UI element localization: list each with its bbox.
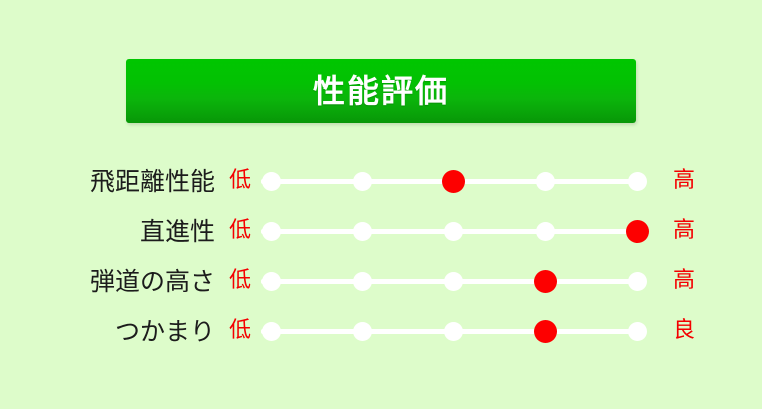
rating-row-label: 直進性 [60,219,215,244]
rating-scale-min-label: 低 [219,170,261,192]
rating-row: つかまり 低 良 [0,306,762,356]
rating-dot-3[interactable] [444,222,463,241]
rating-dot-2[interactable] [353,322,372,341]
rating-dot-5[interactable] [626,220,649,243]
rating-scale[interactable] [261,319,645,343]
rating-scale-min-label: 低 [219,320,261,342]
rating-dot-4[interactable] [536,222,555,241]
rating-scale-max-label: 高 [663,170,705,192]
header-banner: 性能評価 [126,59,636,123]
rating-dot-2[interactable] [353,172,372,191]
page-title: 性能評価 [313,75,449,107]
rating-dot-5[interactable] [628,272,647,291]
rating-dot-4[interactable] [534,320,557,343]
rating-dot-5[interactable] [628,322,647,341]
rating-dot-1[interactable] [262,172,281,191]
rating-scale-max-label: 高 [663,270,705,292]
rating-dot-1[interactable] [262,222,281,241]
rating-scale-min-label: 低 [219,270,261,292]
rating-dot-5[interactable] [628,172,647,191]
rating-list: 飛距離性能 低 高 直進性 低 高 [0,156,762,356]
rating-row-label: 飛距離性能 [60,169,215,194]
rating-dot-1[interactable] [262,322,281,341]
rating-dot-2[interactable] [353,222,372,241]
rating-dot-1[interactable] [262,272,281,291]
rating-row: 直進性 低 高 [0,206,762,256]
rating-dot-3[interactable] [444,272,463,291]
rating-row: 弾道の高さ 低 高 [0,256,762,306]
rating-scale[interactable] [261,269,645,293]
rating-dot-2[interactable] [353,272,372,291]
rating-scale[interactable] [261,219,645,243]
rating-scale[interactable] [261,169,645,193]
rating-row-label: つかまり [60,319,215,344]
rating-scale-max-label: 良 [663,320,705,342]
rating-scale-min-label: 低 [219,220,261,242]
rating-row: 飛距離性能 低 高 [0,156,762,206]
rating-row-label: 弾道の高さ [60,269,215,294]
rating-dot-4[interactable] [536,172,555,191]
rating-scale-max-label: 高 [663,220,705,242]
rating-dot-3[interactable] [442,170,465,193]
rating-dot-3[interactable] [444,322,463,341]
performance-rating-card: 性能評価 飛距離性能 低 高 直進性 低 [0,0,762,409]
rating-dot-4[interactable] [534,270,557,293]
